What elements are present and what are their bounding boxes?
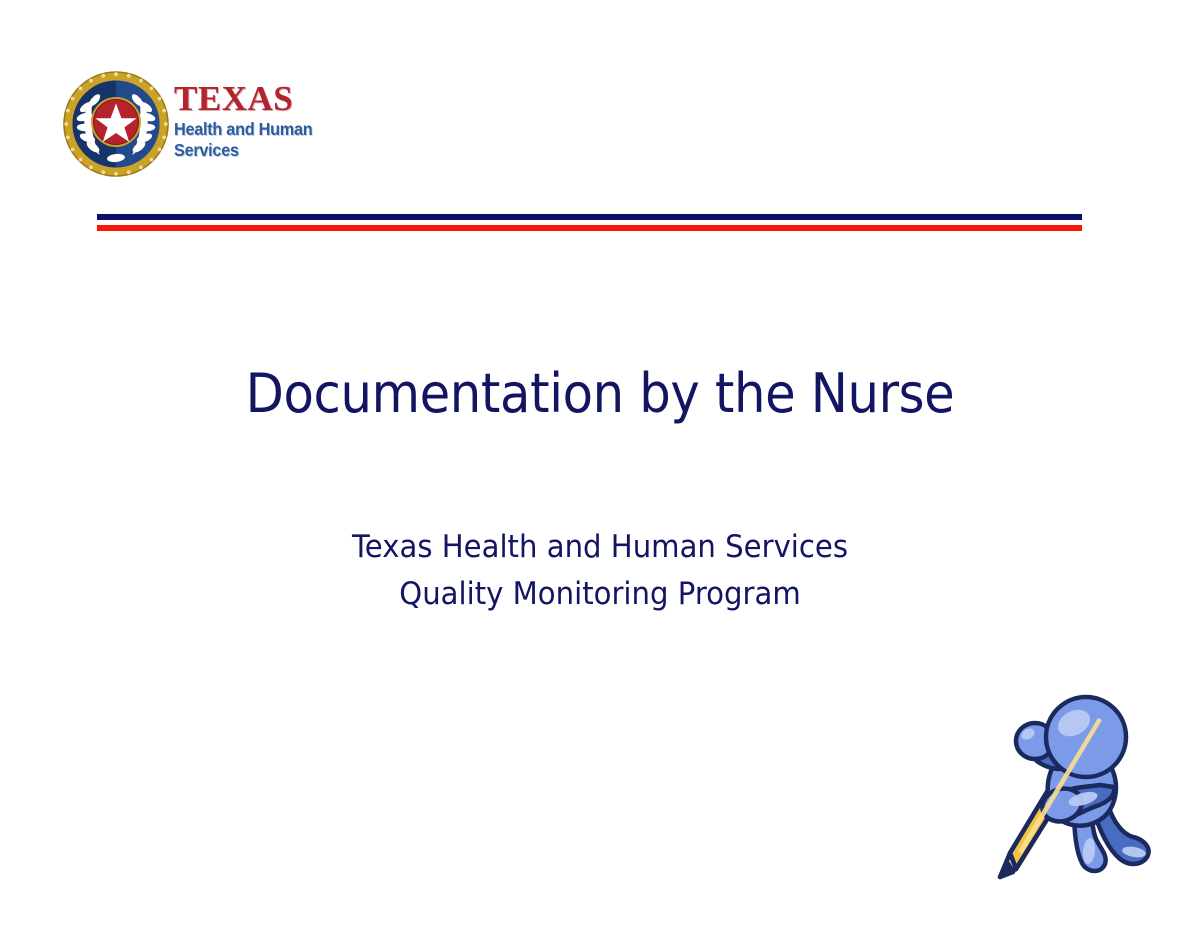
logo-texas-text: TEXAS [174, 82, 364, 116]
divider-red-bar [97, 225, 1082, 231]
slide-subtitle: Texas Health and Human Services Quality … [0, 524, 1200, 618]
subtitle-line-1: Texas Health and Human Services [36, 524, 1164, 571]
person-writing-with-pencil-icon [988, 681, 1163, 886]
subtitle-line-2: Quality Monitoring Program [36, 571, 1164, 618]
slide-canvas: TEXAS Health and Human Services Document… [0, 0, 1200, 927]
page-title: Documentation by the Nurse [0, 362, 1200, 425]
logo-wordmark: TEXAS Health and Human Services [174, 82, 364, 161]
slide-title-text: Documentation by the Nurse [48, 362, 1152, 425]
texas-hhs-logo: TEXAS Health and Human Services [62, 68, 362, 180]
logo-subtext-line2: Services [174, 140, 351, 161]
divider [97, 214, 1082, 231]
logo-subtext: Health and Human Services [174, 119, 351, 161]
texas-hhs-seal-icon [62, 70, 170, 178]
logo-subtext-line1: Health and Human [174, 119, 351, 140]
